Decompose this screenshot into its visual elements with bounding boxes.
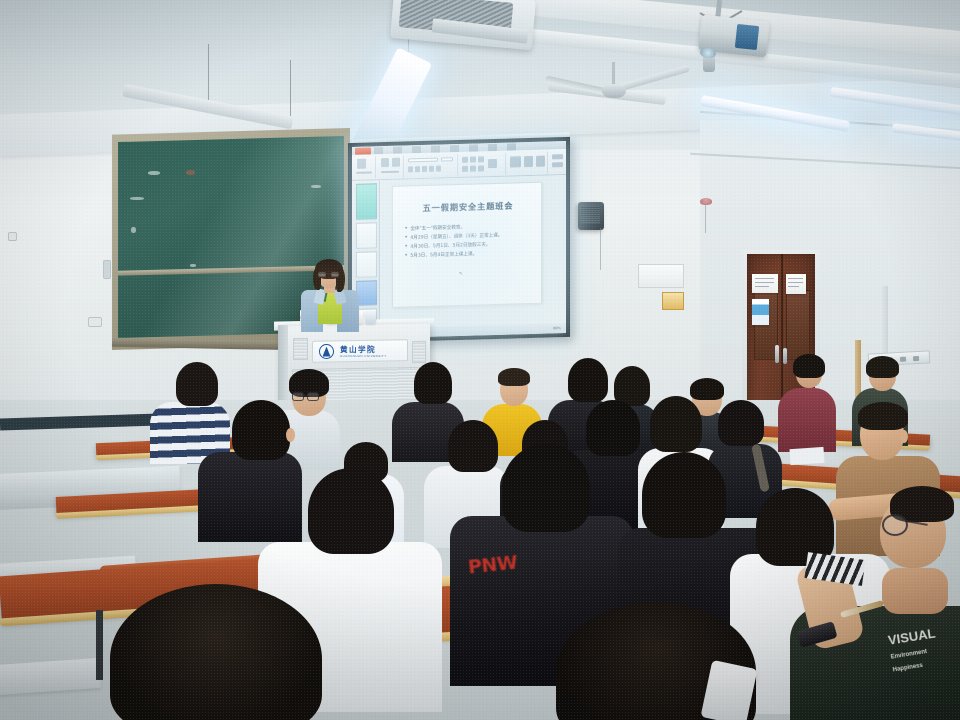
- wall-sign: [662, 292, 684, 310]
- ribbon-group-slides[interactable]: [378, 156, 404, 179]
- current-slide: 五一假期安全主题班会 全体"五一"假期安全教育。 4月29日（星期五）、调休（3…: [392, 182, 542, 308]
- notice-text-line: [755, 286, 769, 287]
- student-hair: [586, 400, 640, 456]
- cable-trunk: [880, 286, 888, 358]
- font-size-box[interactable]: [441, 157, 453, 161]
- ribbon-caption: [356, 171, 372, 173]
- student-torso: [198, 452, 302, 542]
- student-hair: [718, 400, 764, 446]
- smoke-detector-stem: [705, 205, 706, 233]
- student-hair: [866, 356, 899, 378]
- chalk-smudge: [190, 264, 196, 267]
- chalk-smudge: [131, 227, 136, 233]
- student-hair: [650, 396, 702, 452]
- student-hair: [414, 362, 452, 404]
- student-glasses-lens: [882, 514, 908, 536]
- slide-text-cursor: ↖: [459, 271, 463, 277]
- slide-thumbnail[interactable]: [356, 183, 377, 220]
- socket-slot[interactable]: [900, 357, 906, 362]
- indent-icon[interactable]: [478, 156, 484, 162]
- chalk-smudge: [186, 170, 195, 175]
- align-right-icon[interactable]: [478, 165, 484, 171]
- layout-icon[interactable]: [392, 158, 400, 167]
- light-hanger-wire: [208, 44, 209, 104]
- ribbon-caption: [381, 171, 399, 173]
- bold-icon[interactable]: [408, 166, 413, 172]
- student-ear: [286, 428, 295, 442]
- classroom-photo: 五一假期安全主题班会 全体"五一"假期安全教育。 4月29日（星期五）、调休（3…: [0, 0, 960, 720]
- university-name-english: HUANGSHAN UNIVERSITY: [340, 354, 387, 358]
- podium-side: [278, 325, 288, 409]
- wall-whiteboard: [638, 264, 684, 288]
- student-hair: [858, 402, 908, 430]
- slide-bullet-list: 全体"五一"假期安全教育。 4月29日（星期五）、调休（3天）正常上课。 4月3…: [405, 221, 537, 260]
- chalk-smudge: [311, 185, 321, 188]
- ribbon-group-clipboard[interactable]: [354, 156, 376, 179]
- smoke-detector-icon: [700, 198, 712, 205]
- wall-switch[interactable]: [8, 232, 17, 241]
- student-hair: [176, 362, 218, 406]
- ceiling-fan-motor: [602, 84, 626, 98]
- student-hair: [498, 368, 530, 386]
- student-hair: [448, 420, 498, 472]
- ceiling-fan-rod: [612, 62, 615, 86]
- ribbon-group-paragraph[interactable]: [460, 153, 506, 176]
- door-notice-left: [752, 274, 778, 293]
- wall-speaker-grille: [581, 206, 600, 224]
- slide-thumbnail[interactable]: [356, 280, 377, 306]
- notice-text-line: [755, 278, 774, 279]
- projection-screen: 五一假期安全主题班会 全体"五一"假期安全教育。 4月29日（星期五）、调休（3…: [352, 141, 566, 339]
- socket-slot[interactable]: [913, 356, 919, 361]
- slide-thumbnail[interactable]: [356, 251, 377, 278]
- student-ear: [900, 430, 908, 443]
- door-poster: [752, 299, 769, 325]
- line-spacing-icon[interactable]: [488, 159, 497, 168]
- new-slide-icon[interactable]: [381, 158, 389, 167]
- select-icon[interactable]: [552, 162, 563, 167]
- desk-leg: [96, 610, 103, 680]
- door-handle-right[interactable]: [783, 348, 787, 364]
- bullets-icon[interactable]: [462, 157, 468, 163]
- notice-text-line: [788, 278, 803, 279]
- presenter-glasses-bridge: [319, 273, 339, 278]
- cup: [365, 311, 376, 324]
- projector-panel: [735, 24, 759, 50]
- align-center-icon[interactable]: [470, 166, 476, 172]
- wall-plate: [103, 260, 111, 279]
- podium-vent-right: [412, 341, 426, 363]
- door-glass-panel-right: [786, 290, 810, 360]
- speaker-wire: [600, 228, 601, 270]
- strikethrough-icon[interactable]: [436, 166, 441, 172]
- wall-outlet[interactable]: [88, 317, 102, 327]
- student-hair: [690, 378, 724, 400]
- underline-icon[interactable]: [422, 166, 427, 172]
- numbering-icon[interactable]: [470, 157, 476, 163]
- slide-title: 五一假期安全主题班会: [393, 199, 543, 215]
- ribbon-group-font[interactable]: [406, 154, 458, 177]
- paper-on-desk: [789, 447, 824, 465]
- student-hair: [642, 452, 726, 538]
- quick-styles-icon[interactable]: [536, 156, 545, 167]
- student-hair: [232, 400, 290, 460]
- student-hair: [308, 468, 394, 554]
- zoom-level[interactable]: 68%: [553, 326, 561, 330]
- ppt-slide-stage: 五一假期安全主题班会 全体"五一"假期安全教育。 4月29日（星期五）、调休（3…: [380, 175, 566, 328]
- ribbon-group-drawing[interactable]: [508, 152, 548, 175]
- notice-text-line: [788, 286, 799, 287]
- neck-skin: [882, 568, 948, 614]
- student-torso: [778, 388, 836, 452]
- find-icon[interactable]: [552, 154, 563, 159]
- chalk-smudge: [148, 171, 160, 175]
- shapes-icon[interactable]: [510, 156, 521, 167]
- chalk-smudge: [130, 197, 144, 200]
- podium-vent-left: [293, 338, 308, 360]
- paste-icon[interactable]: [357, 159, 366, 169]
- arrange-icon[interactable]: [524, 156, 533, 167]
- light-hanger-wire: [290, 60, 291, 122]
- student-glasses-bridge: [303, 395, 309, 397]
- italic-icon[interactable]: [415, 166, 420, 172]
- align-left-icon[interactable]: [462, 166, 468, 172]
- font-name-box[interactable]: [408, 158, 438, 163]
- notice-text-line: [755, 282, 774, 283]
- shirt-graphic-text: VISUAL Environment Happiness: [887, 627, 940, 675]
- door-handle-left[interactable]: [775, 345, 779, 363]
- shirt-print-sub1: Environment: [890, 649, 927, 661]
- student-hair: [568, 358, 608, 402]
- font-color-icon[interactable]: [429, 166, 434, 172]
- notice-text-line: [788, 282, 803, 283]
- slide-thumbnail[interactable]: [356, 222, 377, 249]
- door-notice-right: [786, 274, 806, 294]
- ribbon-group-editing[interactable]: [550, 151, 566, 173]
- student-hair: [793, 354, 825, 378]
- student-hair: [502, 444, 590, 532]
